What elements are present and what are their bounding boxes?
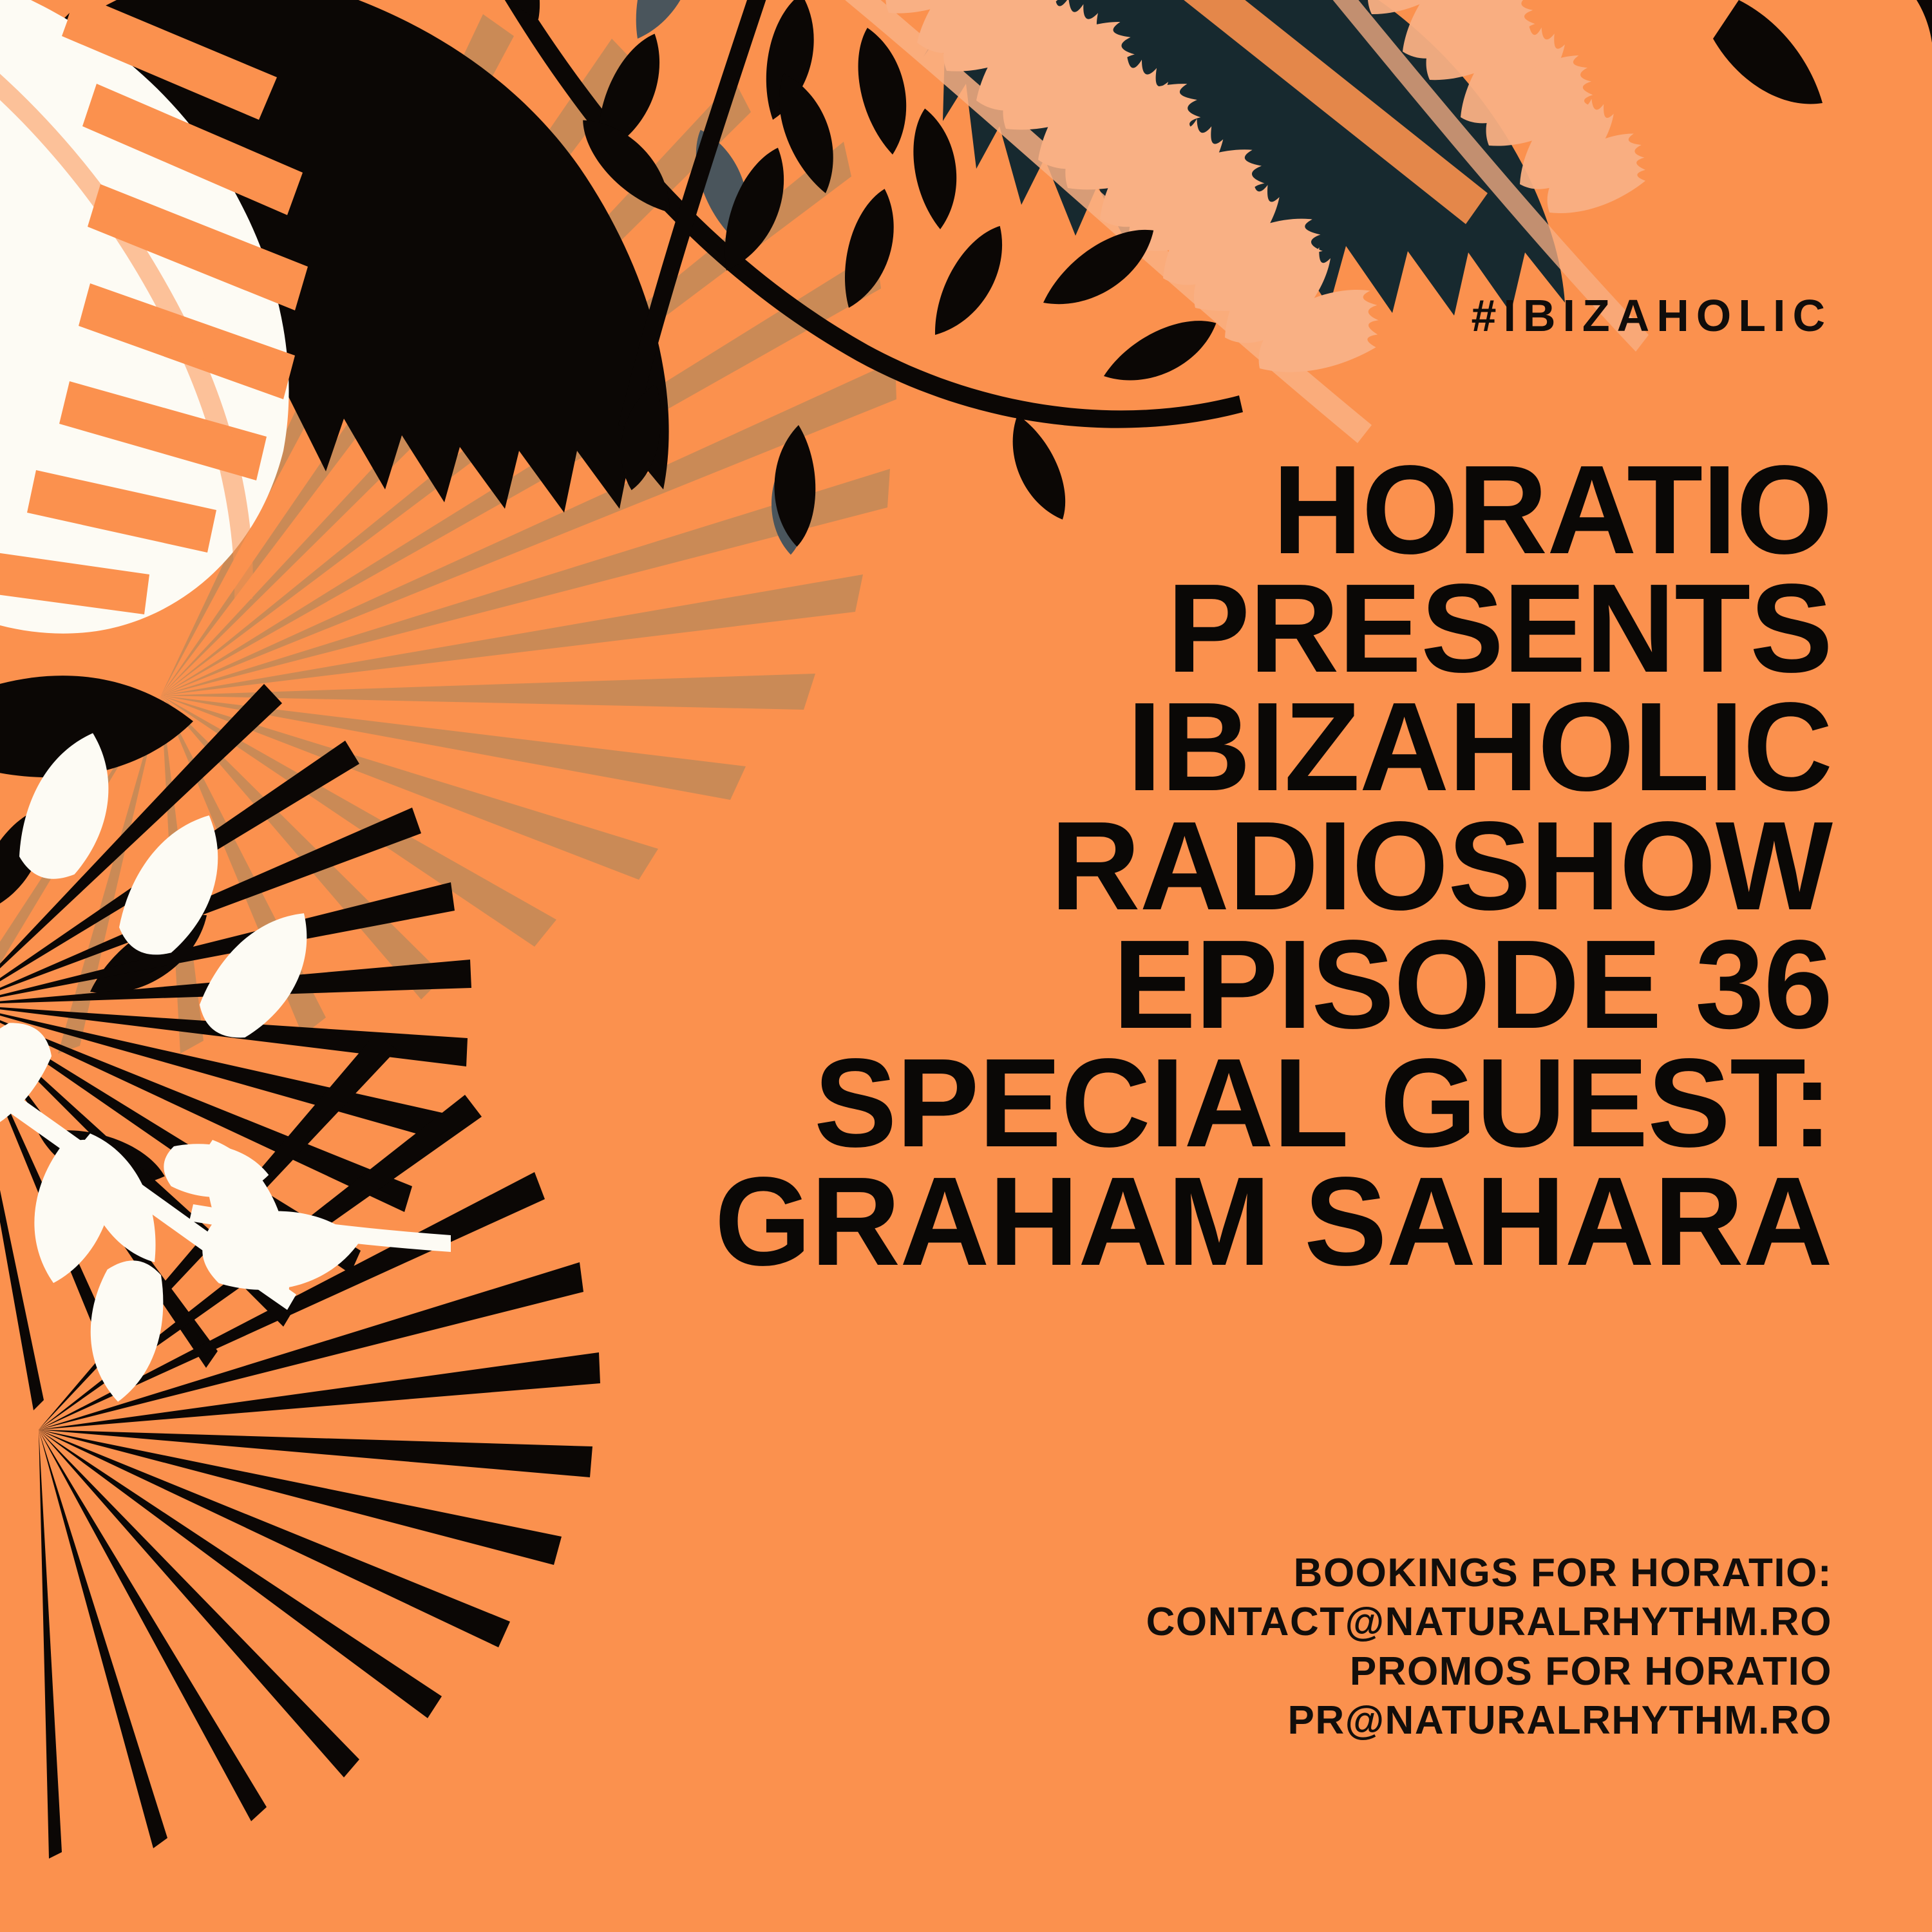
- headline-line-guest-label: SPECIAL GUEST:: [500, 1044, 1833, 1162]
- contact-bookings-label: BOOKINGS FOR HORATIO:: [1146, 1549, 1832, 1598]
- headline-line-artist: HORATIO: [500, 451, 1833, 569]
- headline-line-presents: PRESENTS: [500, 569, 1833, 688]
- poster-text-content: #IBIZAHOLIC HORATIO PRESENTS IBIZAHOLIC …: [0, 0, 1932, 1932]
- headline-block: HORATIO PRESENTS IBIZAHOLIC RADIOSHOW EP…: [480, 451, 1832, 1282]
- hashtag-label: #IBIZAHOLIC: [1472, 293, 1832, 338]
- poster-canvas: #IBIZAHOLIC HORATIO PRESENTS IBIZAHOLIC …: [0, 0, 1932, 1932]
- headline-line-guest-name: GRAHAM SAHARA: [500, 1162, 1833, 1281]
- headline-line-show-name: IBIZAHOLIC: [500, 688, 1833, 806]
- headline-line-episode: EPISODE 36: [500, 925, 1833, 1044]
- contact-promos-label: PROMOS FOR HORATIO: [1146, 1647, 1832, 1696]
- contact-bookings-email[interactable]: CONTACT@NATURALRHYTHM.RO: [1146, 1598, 1832, 1647]
- contact-promos-email[interactable]: PR@NATURALRHYTHM.RO: [1146, 1696, 1832, 1745]
- contact-block: BOOKINGS FOR HORATIO: CONTACT@NATURALRHY…: [1146, 1549, 1832, 1745]
- headline-line-radioshow: RADIOSHOW: [500, 807, 1833, 925]
